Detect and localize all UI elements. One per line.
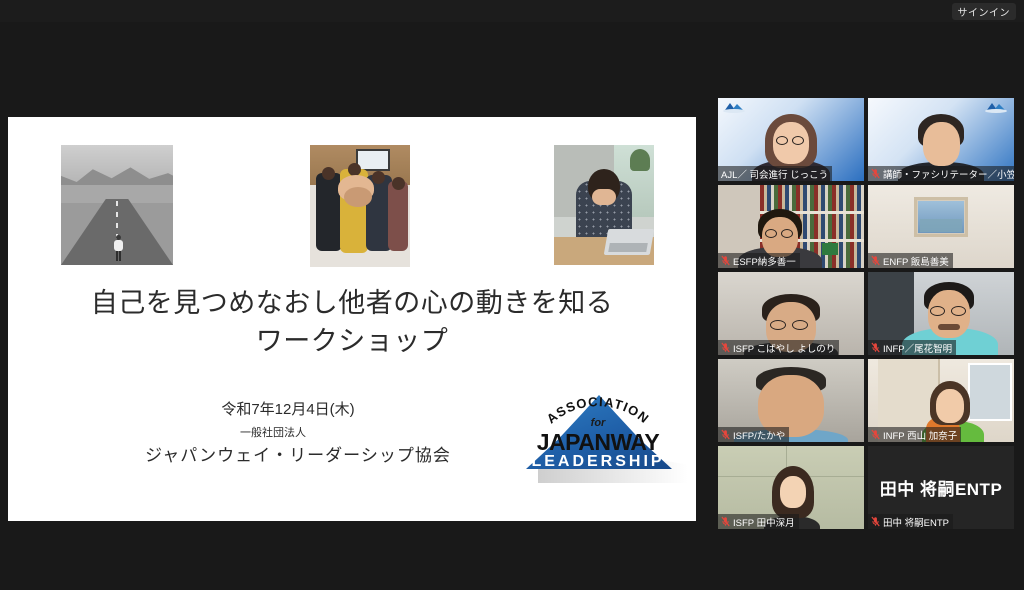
participant-name-bar: 講師・ファシリテーター／小笠原健 [868, 166, 1014, 181]
slide-title: 自己を見つめなおし他者の心の動きを知る ワークショップ [8, 285, 696, 362]
slide-photo-row [8, 117, 696, 257]
participant-name-label: ISFP 田中深月 [733, 515, 795, 529]
participant-name-bar: ENFP 飯島善美 [868, 253, 953, 268]
participant-name-label: ISFP/たかや [733, 428, 785, 442]
japanway-leadership-logo: ASSOCIATION for JAPANWAY LEADERSHIP [508, 379, 688, 491]
participant-name-label: ENFP 飯島善美 [883, 254, 949, 268]
participant-tile[interactable]: INFP／尾花智明 [868, 272, 1014, 355]
logo-for-label: for [508, 417, 688, 429]
participant-gallery: AJL／ 司会進行 じっこう 講師・ファシリテーター／小笠原健 ESFP納多善一… [704, 22, 1024, 590]
participant-name-bar: AJL／ 司会進行 じっこう [718, 166, 832, 181]
mic-muted-icon [871, 342, 880, 353]
sign-in-button[interactable]: サインイン [952, 3, 1017, 20]
participant-tile[interactable]: 田中 将嗣ENTP 田中 将嗣ENTP [868, 446, 1014, 529]
participant-name-bar: ISFP こばやし よしのり [718, 340, 839, 355]
logo-japanway-label: JAPANWAY [508, 429, 688, 456]
presentation-slide: 自己を見つめなおし他者の心の動きを知る ワークショップ 令和7年12月4日(木)… [8, 117, 696, 521]
virtual-background-icon [722, 100, 748, 114]
slide-org-prefix: 一般社団法人 [8, 424, 538, 440]
shared-screen-stage: 自己を見つめなおし他者の心の動きを知る ワークショップ 令和7年12月4日(木)… [0, 22, 704, 590]
participant-name-bar: 田中 将嗣ENTP [868, 514, 953, 529]
mic-muted-icon [721, 516, 730, 527]
photo-stress-icon [554, 145, 654, 265]
slide-date: 令和7年12月4日(木) [8, 398, 568, 419]
participant-name-bar: INFP 西山 加奈子 [868, 427, 961, 442]
photo-road-icon [61, 145, 173, 265]
participant-name-label: AJL／ 司会進行 じっこう [721, 167, 828, 181]
mic-muted-icon [721, 429, 730, 440]
participant-name-label: ISFP こばやし よしのり [733, 341, 835, 355]
participant-name-bar: INFP／尾花智明 [868, 340, 956, 355]
participant-name-bar: ISFP 田中深月 [718, 514, 799, 529]
participant-tile[interactable]: ISFP こばやし よしのり [718, 272, 864, 355]
photo-team-icon [310, 145, 410, 267]
virtual-background-icon [984, 100, 1010, 114]
participant-tile[interactable]: ISFP/たかや [718, 359, 864, 442]
participant-name-bar: ESFP納多善一 [718, 253, 800, 268]
top-bar: サインイン [0, 0, 1024, 22]
mic-muted-icon [721, 255, 730, 266]
participant-name-label: INFP 西山 加奈子 [883, 428, 957, 442]
participant-name-label: 田中 将嗣ENTP [883, 515, 949, 529]
slide-org-name: ジャパンウェイ・リーダーシップ協会 [8, 441, 588, 466]
mic-muted-icon [871, 516, 880, 527]
mic-muted-icon [721, 342, 730, 353]
mic-muted-icon [871, 255, 880, 266]
participant-tile[interactable]: AJL／ 司会進行 じっこう [718, 98, 864, 181]
participant-name-label: INFP／尾花智明 [883, 341, 952, 355]
participant-tile[interactable]: INFP 西山 加奈子 [868, 359, 1014, 442]
participant-tile[interactable]: ENFP 飯島善美 [868, 185, 1014, 268]
participant-name-label: ESFP納多善一 [733, 254, 796, 268]
participant-tile[interactable]: ESFP納多善一 [718, 185, 864, 268]
logo-leadership-label: LEADERSHIP [508, 453, 688, 471]
participant-tile[interactable]: ISFP 田中深月 [718, 446, 864, 529]
mic-muted-icon [871, 429, 880, 440]
participant-name-bar: ISFP/たかや [718, 427, 789, 442]
participant-name-label: 講師・ファシリテーター／小笠原健 [883, 167, 1014, 181]
mic-muted-icon [871, 168, 880, 179]
participant-tile[interactable]: 講師・ファシリテーター／小笠原健 [868, 98, 1014, 181]
